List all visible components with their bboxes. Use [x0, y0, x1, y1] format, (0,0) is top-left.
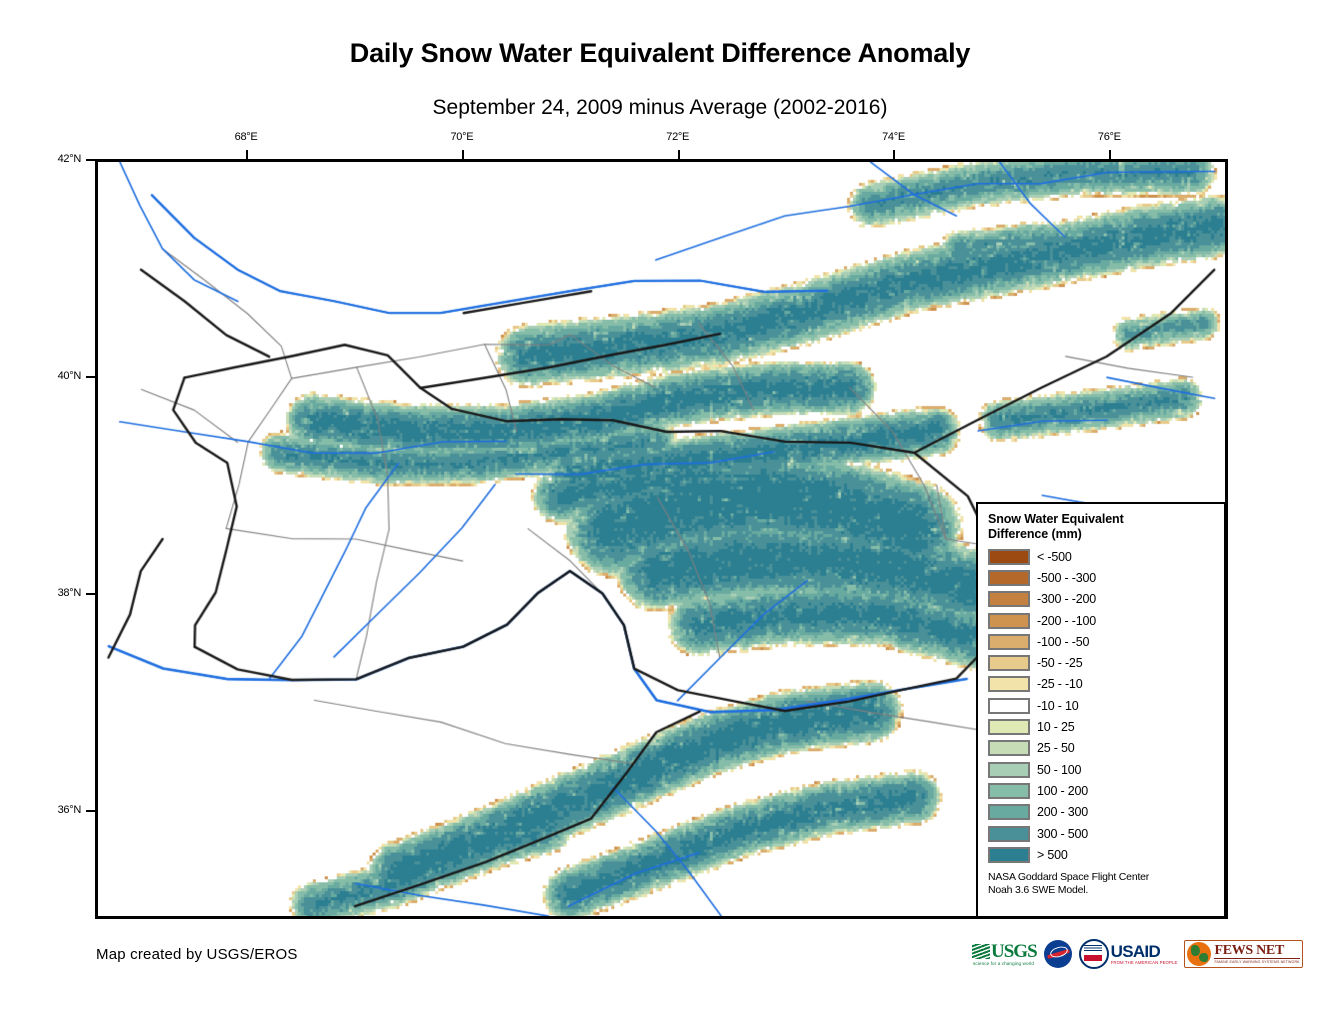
- lon-tick: [246, 150, 248, 159]
- legend-swatch: [988, 804, 1030, 820]
- legend-row: -300 - -200: [988, 589, 1224, 610]
- legend-swatch: [988, 698, 1030, 714]
- legend-label: 50 - 100: [1037, 763, 1081, 777]
- legend-label: 10 - 25: [1037, 720, 1075, 734]
- fews-logo-subtext: FAMINE EARLY WARNING SYSTEMS NETWORK: [1214, 958, 1299, 964]
- legend-source-line1: NASA Goddard Space Flight Center: [988, 871, 1224, 884]
- legend-swatch: [988, 847, 1030, 863]
- fews-logo[interactable]: FEWS NET FAMINE EARLY WARNING SYSTEMS NE…: [1184, 940, 1302, 968]
- nasa-meatball-icon: [1044, 940, 1072, 968]
- legend-row: 25 - 50: [988, 738, 1224, 759]
- legend-label: < -500: [1037, 550, 1072, 564]
- lon-tick: [678, 150, 680, 159]
- lat-tick: [86, 376, 95, 378]
- legend-row: -500 - -300: [988, 567, 1224, 588]
- usaid-logo-text: USAID: [1111, 943, 1178, 960]
- page-subtitle: September 24, 2009 minus Average (2002-2…: [0, 96, 1320, 120]
- legend-row: 10 - 25: [988, 716, 1224, 737]
- lat-tick-label: 40°N: [58, 370, 81, 382]
- legend-swatch: [988, 676, 1030, 692]
- fews-logo-text: FEWS NET: [1214, 944, 1299, 958]
- usaid-seal-icon: [1079, 939, 1109, 969]
- legend-row: -10 - 10: [988, 695, 1224, 716]
- legend-label: 200 - 300: [1037, 805, 1088, 819]
- legend-label: -25 - -10: [1037, 677, 1082, 691]
- lat-tick: [86, 159, 95, 161]
- lat-tick-label: 38°N: [58, 587, 81, 599]
- lat-tick: [86, 593, 95, 595]
- legend-title-line2: Difference (mm): [988, 527, 1224, 542]
- lat-tick: [86, 810, 95, 812]
- legend-swatch: [988, 613, 1030, 629]
- legend-class-list: < -500-500 - -300-300 - -200-200 - -100-…: [988, 546, 1224, 865]
- usaid-logo-subtext: FROM THE AMERICAN PEOPLE: [1111, 960, 1178, 965]
- lon-tick-label: 68°E: [235, 131, 258, 143]
- usgs-logo[interactable]: USGS science for a changing world: [972, 942, 1037, 966]
- legend-panel: Snow Water Equivalent Difference (mm) < …: [976, 502, 1226, 918]
- fews-globe-icon: [1187, 942, 1211, 966]
- usgs-logo-text: USGS: [991, 942, 1037, 961]
- legend-row: -200 - -100: [988, 610, 1224, 631]
- nasa-logo[interactable]: [1044, 940, 1072, 968]
- lat-tick-label: 36°N: [58, 804, 81, 816]
- lon-tick-label: 76°E: [1098, 131, 1121, 143]
- legend-source-line2: Noah 3.6 SWE Model.: [988, 884, 1224, 897]
- legend-label: -100 - -50: [1037, 635, 1089, 649]
- legend-title-line1: Snow Water Equivalent: [988, 512, 1224, 527]
- legend-row: 100 - 200: [988, 780, 1224, 801]
- legend-row: > 500: [988, 844, 1224, 865]
- legend-row: -50 - -25: [988, 652, 1224, 673]
- legend-swatch: [988, 549, 1030, 565]
- legend-row: < -500: [988, 546, 1224, 567]
- legend-label: 300 - 500: [1037, 827, 1088, 841]
- legend-title: Snow Water Equivalent Difference (mm): [988, 512, 1224, 542]
- legend-label: -300 - -200: [1037, 592, 1096, 606]
- lon-tick: [462, 150, 464, 159]
- page-title: Daily Snow Water Equivalent Difference A…: [0, 38, 1320, 69]
- legend-label: -10 - 10: [1037, 699, 1078, 713]
- legend-swatch: [988, 570, 1030, 586]
- lon-tick: [1109, 150, 1111, 159]
- legend-label: -500 - -300: [1037, 571, 1096, 585]
- map-credit: Map created by USGS/EROS: [96, 946, 298, 963]
- legend-swatch: [988, 740, 1030, 756]
- lat-tick-label: 42°N: [58, 153, 81, 165]
- legend-swatch: [988, 719, 1030, 735]
- usgs-wave-icon: [972, 944, 990, 959]
- legend-row: 300 - 500: [988, 823, 1224, 844]
- lon-tick-label: 72°E: [666, 131, 689, 143]
- legend-source: NASA Goddard Space Flight Center Noah 3.…: [988, 871, 1224, 897]
- legend-swatch: [988, 826, 1030, 842]
- lon-tick-label: 74°E: [882, 131, 905, 143]
- legend-swatch: [988, 783, 1030, 799]
- legend-row: 200 - 300: [988, 802, 1224, 823]
- legend-label: -50 - -25: [1037, 656, 1082, 670]
- legend-swatch: [988, 655, 1030, 671]
- legend-row: 50 - 100: [988, 759, 1224, 780]
- lon-tick: [893, 150, 895, 159]
- legend-swatch: [988, 762, 1030, 778]
- legend-swatch: [988, 634, 1030, 650]
- usgs-logo-subtext: science for a changing world: [973, 961, 1037, 966]
- legend-label: > 500: [1037, 848, 1068, 862]
- legend-swatch: [988, 591, 1030, 607]
- lon-tick-label: 70°E: [450, 131, 473, 143]
- logo-bar: USGS science for a changing world USAID …: [972, 936, 1303, 972]
- legend-row: -100 - -50: [988, 631, 1224, 652]
- legend-label: 25 - 50: [1037, 741, 1075, 755]
- legend-label: 100 - 200: [1037, 784, 1088, 798]
- legend-label: -200 - -100: [1037, 614, 1096, 628]
- legend-row: -25 - -10: [988, 674, 1224, 695]
- usaid-logo[interactable]: USAID FROM THE AMERICAN PEOPLE: [1079, 939, 1178, 969]
